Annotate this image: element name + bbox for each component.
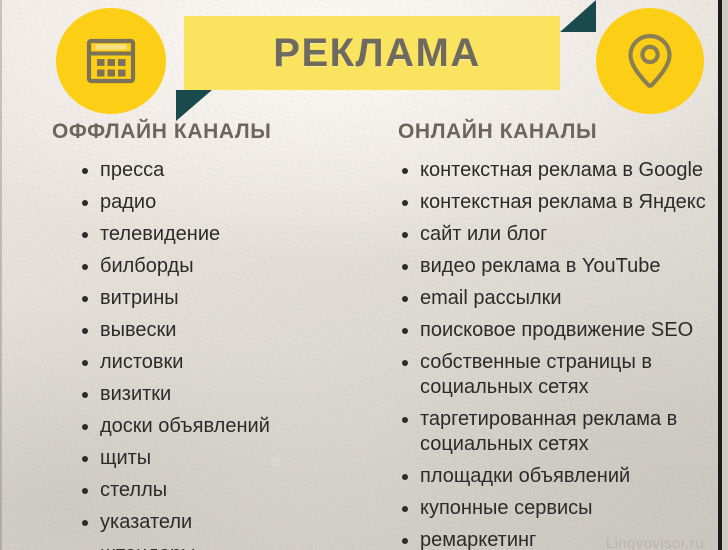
right-outer-margin	[722, 0, 728, 550]
list-item: штендеры	[74, 542, 378, 550]
map-pin-icon	[623, 32, 677, 90]
list-item: витрины	[74, 286, 378, 311]
list-item: щиты	[74, 446, 378, 471]
left-frame-edge	[0, 0, 2, 550]
offline-channels-column: ОФФЛАЙН КАНАЛЫ прессарадиотелевидениебил…	[48, 120, 378, 550]
poster-header: РЕКЛАМА	[0, 0, 728, 122]
offline-channels-list: прессарадиотелевидениебилбордывитринывыв…	[48, 158, 378, 550]
list-item: радио	[74, 190, 378, 215]
list-item: доски объявлений	[74, 414, 378, 439]
list-item: листовки	[74, 350, 378, 375]
ribbon-fold-top-right-icon	[560, 0, 596, 32]
online-channels-list: контекстная реклама в Googleконтекстная …	[382, 158, 712, 550]
list-item: купонные сервисы	[394, 496, 712, 521]
list-item: email рассылки	[394, 286, 712, 311]
offline-badge-circle	[56, 8, 166, 114]
list-item: поисковое продвижение SEO	[394, 318, 712, 343]
list-item: собственные страницы в социальных сетях	[394, 350, 712, 400]
title-ribbon: РЕКЛАМА	[184, 16, 560, 106]
list-item: таргетированная реклама в социальных сет…	[394, 407, 712, 457]
calendar-grid-icon	[84, 34, 138, 88]
list-item: пресса	[74, 158, 378, 183]
ribbon-fold-bottom-left-icon	[176, 90, 212, 121]
list-item: контекстная реклама в Google	[394, 158, 712, 183]
list-item: стеллы	[74, 478, 378, 503]
infographic-poster: РЕКЛАМА ОФФЛАЙН КАНАЛЫ прессарадиотелеви…	[0, 0, 728, 550]
right-frame-edge	[718, 0, 722, 550]
channels-columns: ОФФЛАЙН КАНАЛЫ прессарадиотелевидениебил…	[0, 120, 728, 550]
list-item: площадки объявлений	[394, 464, 712, 489]
list-item: контекстная реклама в Яндекс	[394, 190, 712, 215]
online-column-heading: ОНЛАЙН КАНАЛЫ	[382, 120, 712, 144]
list-item: телевидение	[74, 222, 378, 247]
online-channels-column: ОНЛАЙН КАНАЛЫ контекстная реклама в Goog…	[382, 120, 712, 550]
list-item: билборды	[74, 254, 378, 279]
list-item: сайт или блог	[394, 222, 712, 247]
list-item: вывески	[74, 318, 378, 343]
poster-title: РЕКЛАМА	[184, 16, 560, 90]
list-item: указатели	[74, 510, 378, 535]
online-badge-circle	[596, 8, 704, 114]
offline-column-heading: ОФФЛАЙН КАНАЛЫ	[48, 120, 378, 144]
list-item: видео реклама в YouTube	[394, 254, 712, 279]
list-item: визитки	[74, 382, 378, 407]
source-watermark: Lingvovisor.ru	[606, 535, 704, 550]
